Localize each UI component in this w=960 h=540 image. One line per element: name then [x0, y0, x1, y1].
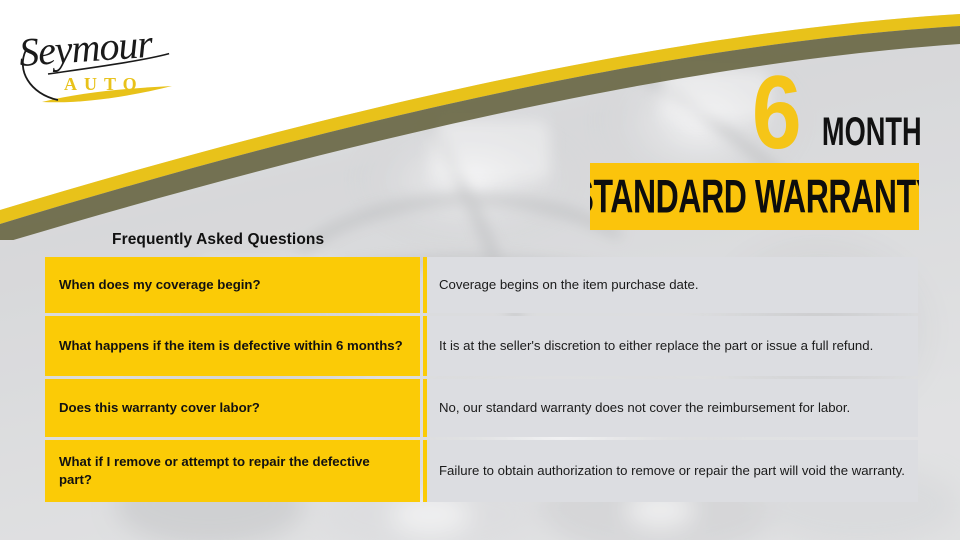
faq-question-cell: What if I remove or attempt to repair th…: [45, 440, 420, 502]
faq-question-cell: What happens if the item is defective wi…: [45, 316, 420, 376]
faq-answer-cell: No, our standard warranty does not cover…: [423, 379, 918, 437]
faq-answer-cell: Coverage begins on the item purchase dat…: [423, 257, 918, 313]
faq-question-text: When does my coverage begin?: [59, 276, 261, 294]
faq-answer-text: Failure to obtain authorization to remov…: [439, 462, 906, 481]
duration-unit: MONTH: [822, 113, 922, 152]
standard-warranty-text: STANDARD WARRANTY: [590, 173, 919, 220]
table-row: What happens if the item is defective wi…: [45, 316, 918, 376]
table-row: What if I remove or attempt to repair th…: [45, 440, 918, 502]
slide-canvas: Seymour AUTO 6 MONTH STANDARD WARRANTY F…: [0, 0, 960, 540]
faq-question-text: Does this warranty cover labor?: [59, 399, 260, 417]
faq-question-text: What happens if the item is defective wi…: [59, 337, 403, 355]
faq-answer-text: Coverage begins on the item purchase dat…: [439, 276, 906, 295]
logo-script-text: Seymour: [17, 21, 154, 75]
faq-table: When does my coverage begin? Coverage be…: [45, 257, 918, 502]
table-row: Does this warranty cover labor? No, our …: [45, 379, 918, 437]
faq-heading: Frequently Asked Questions: [112, 231, 324, 249]
seymour-auto-logo: Seymour AUTO: [12, 14, 192, 110]
standard-warranty-banner: STANDARD WARRANTY: [590, 163, 919, 230]
faq-question-cell: When does my coverage begin?: [45, 257, 420, 313]
table-row: When does my coverage begin? Coverage be…: [45, 257, 918, 313]
faq-question-cell: Does this warranty cover labor?: [45, 379, 420, 437]
faq-answer-text: It is at the seller's discretion to eith…: [439, 337, 906, 356]
duration-number: 6: [752, 71, 800, 156]
faq-answer-cell: It is at the seller's discretion to eith…: [423, 316, 918, 376]
faq-answer-cell: Failure to obtain authorization to remov…: [423, 440, 918, 502]
faq-question-text: What if I remove or attempt to repair th…: [59, 453, 406, 488]
warranty-duration: 6 MONTH: [590, 48, 922, 158]
faq-answer-text: No, our standard warranty does not cover…: [439, 399, 906, 418]
